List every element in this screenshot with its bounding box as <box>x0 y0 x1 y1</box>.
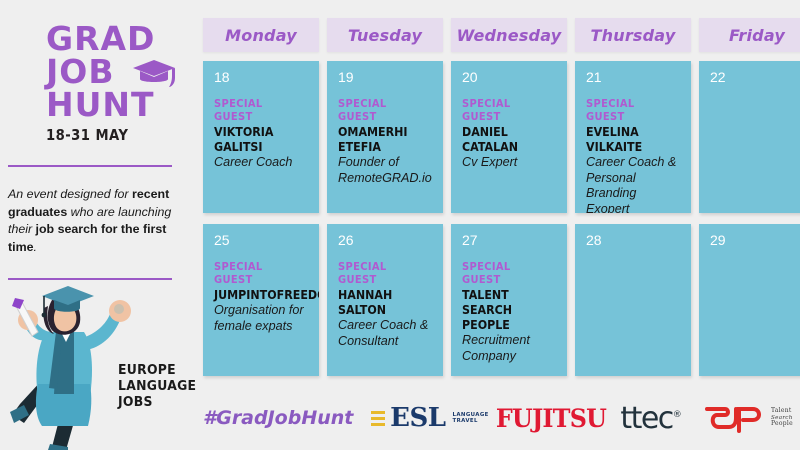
guest-name: DANIEL CATALAN <box>462 124 546 154</box>
calendar-cell-21[interactable]: 21 SPECIAL GUEST EVELINA VILKAITE Career… <box>575 61 691 213</box>
calendar-header-row: Monday Tuesday Wednesday Thursday Friday <box>203 18 800 52</box>
day-header-friday: Friday <box>699 18 800 52</box>
calendar-cell-19[interactable]: 19 SPECIAL GUEST OMAMERHI ETEFIA Founder… <box>327 61 443 213</box>
guest-name: TALENT SEARCH PEOPLE <box>462 287 546 332</box>
elj-line-2: LANGUAGE <box>118 378 190 394</box>
calendar-cell-29[interactable]: 29 <box>699 224 800 376</box>
day-number: 28 <box>586 233 681 248</box>
elj-line-3: JOBS <box>118 394 190 410</box>
graduation-cap-icon <box>132 58 178 88</box>
intro-part-3: . <box>33 240 36 254</box>
sponsor-logo-esl[interactable]: ESL LANGUAGE TRAVEL <box>364 405 496 431</box>
special-guest-label: SPECIAL GUEST <box>338 260 424 286</box>
day-number: 27 <box>462 233 557 248</box>
guest-name: EVELINA VILKAITE <box>586 124 670 154</box>
poster-canvas: GRAD JOB HUNT 18-31 MAY An event designe… <box>0 0 800 450</box>
cell-wrap-19: 19 SPECIAL GUEST OMAMERHI ETEFIA Founder… <box>327 61 443 213</box>
guest-role: Organisation for female expats <box>214 303 309 334</box>
calendar-cell-27[interactable]: 27 SPECIAL GUEST TALENT SEARCH PEOPLE Re… <box>451 224 567 376</box>
calendar-cell-20[interactable]: 20 SPECIAL GUEST DANIEL CATALAN Cv Exper… <box>451 61 567 213</box>
sponsor-logo-ttec[interactable]: ttec® <box>606 401 696 436</box>
tsp-tagline-line-1: Talent <box>771 408 793 415</box>
event-dates: 18-31 MAY <box>46 126 128 144</box>
day-column-tuesday: Tuesday <box>327 18 443 52</box>
day-number: 25 <box>214 233 309 248</box>
calendar-week-2: 25 SPECIAL GUEST JUMPINTOFREEDOM Organis… <box>203 224 800 376</box>
day-number: 18 <box>214 70 309 85</box>
guest-name: JUMPINTOFREEDOM <box>214 287 298 302</box>
cell-wrap-26: 26 SPECIAL GUEST HANNAH SALTON Career Co… <box>327 224 443 376</box>
day-header-thursday: Thursday <box>575 18 691 52</box>
intro-part-1: An event designed for <box>8 187 132 201</box>
guest-role: Career Coach & Personal Branding Exopert <box>586 155 681 213</box>
divider-top <box>8 165 172 167</box>
ttec-text: ttec <box>620 401 672 436</box>
guest-name: VIKTORIA GALITSI <box>214 124 298 154</box>
event-hashtag: #GradJobHunt <box>203 407 364 429</box>
calendar-week-1: 18 SPECIAL GUEST VIKTORIA GALITSI Career… <box>203 61 800 213</box>
calendar-cell-25[interactable]: 25 SPECIAL GUEST JUMPINTOFREEDOM Organis… <box>203 224 319 376</box>
guest-role: Founder of RemoteGRAD.io <box>338 155 433 186</box>
left-panel: GRAD JOB HUNT 18-31 MAY An event designe… <box>0 0 196 450</box>
special-guest-label: SPECIAL GUEST <box>462 260 548 286</box>
cell-wrap-18: 18 SPECIAL GUEST VIKTORIA GALITSI Career… <box>203 61 319 213</box>
special-guest-label: SPECIAL GUEST <box>586 97 672 123</box>
cell-wrap-21: 21 SPECIAL GUEST EVELINA VILKAITE Career… <box>575 61 691 213</box>
guest-name: HANNAH SALTON <box>338 287 422 317</box>
sponsor-logo-talent-search-people[interactable]: Talent Search People <box>696 403 800 433</box>
calendar-grid: Monday Tuesday Wednesday Thursday Friday… <box>203 18 800 376</box>
day-number: 26 <box>338 233 433 248</box>
day-column-thursday: Thursday <box>575 18 691 52</box>
day-number: 22 <box>710 70 800 85</box>
tsp-tagline: Talent Search People <box>771 408 793 428</box>
special-guest-label: SPECIAL GUEST <box>214 97 300 123</box>
tsp-monogram-icon <box>703 403 767 433</box>
guest-role: Cv Expert <box>462 155 557 171</box>
cell-wrap-22: 22 <box>699 61 800 213</box>
guest-role: Recruitment Company <box>462 333 557 364</box>
special-guest-label: SPECIAL GUEST <box>214 260 300 286</box>
day-header-wednesday: Wednesday <box>451 18 567 52</box>
day-number: 19 <box>338 70 433 85</box>
europe-language-jobs-logo: EUROPE LANGUAGE JOBS <box>118 362 196 410</box>
brand-line-3: HUNT <box>46 88 196 121</box>
esl-bars-icon <box>371 411 385 426</box>
day-header-monday: Monday <box>203 18 319 52</box>
day-number: 29 <box>710 233 800 248</box>
calendar-cell-22[interactable]: 22 <box>699 61 800 213</box>
esl-tagline: LANGUAGE TRAVEL <box>453 412 489 425</box>
day-column-friday: Friday <box>699 18 800 52</box>
brand-line-1: GRAD <box>46 22 196 55</box>
divider-bottom <box>8 278 172 280</box>
day-column-wednesday: Wednesday <box>451 18 567 52</box>
cell-wrap-28: 28 <box>575 224 691 376</box>
esl-tagline-line-2: TRAVEL <box>453 418 489 424</box>
special-guest-label: SPECIAL GUEST <box>338 97 424 123</box>
calendar-cell-18[interactable]: 18 SPECIAL GUEST VIKTORIA GALITSI Career… <box>203 61 319 213</box>
special-guest-label: SPECIAL GUEST <box>462 97 548 123</box>
footer-bar: #GradJobHunt ESL LANGUAGE TRAVEL FUJITSU… <box>203 393 800 443</box>
cell-wrap-20: 20 SPECIAL GUEST DANIEL CATALAN Cv Exper… <box>451 61 567 213</box>
cell-wrap-29: 29 <box>699 224 800 376</box>
elj-line-1: EUROPE <box>118 362 190 378</box>
calendar-cell-26[interactable]: 26 SPECIAL GUEST HANNAH SALTON Career Co… <box>327 224 443 376</box>
esl-wordmark: ESL <box>390 405 445 431</box>
day-header-tuesday: Tuesday <box>327 18 443 52</box>
ttec-trademark: ® <box>673 410 682 420</box>
cell-wrap-25: 25 SPECIAL GUEST JUMPINTOFREEDOM Organis… <box>203 224 319 376</box>
guest-name: OMAMERHI ETEFIA <box>338 124 422 154</box>
day-number: 20 <box>462 70 557 85</box>
day-column-monday: Monday <box>203 18 319 52</box>
intro-paragraph: An event designed for recent graduates w… <box>8 186 184 256</box>
calendar-cell-28[interactable]: 28 <box>575 224 691 376</box>
guest-role: Career Coach <box>214 155 309 171</box>
ttec-wordmark: ttec® <box>620 401 681 436</box>
day-number: 21 <box>586 70 681 85</box>
sponsor-logo-fujitsu[interactable]: FUJITSU <box>496 404 606 433</box>
tsp-tagline-line-3: People <box>771 421 793 428</box>
cell-wrap-27: 27 SPECIAL GUEST TALENT SEARCH PEOPLE Re… <box>451 224 567 376</box>
brand-wordmark: GRAD JOB HUNT <box>46 22 196 121</box>
guest-role: Career Coach & Consultant <box>338 318 433 349</box>
fujitsu-wordmark: FUJITSU <box>496 404 606 433</box>
